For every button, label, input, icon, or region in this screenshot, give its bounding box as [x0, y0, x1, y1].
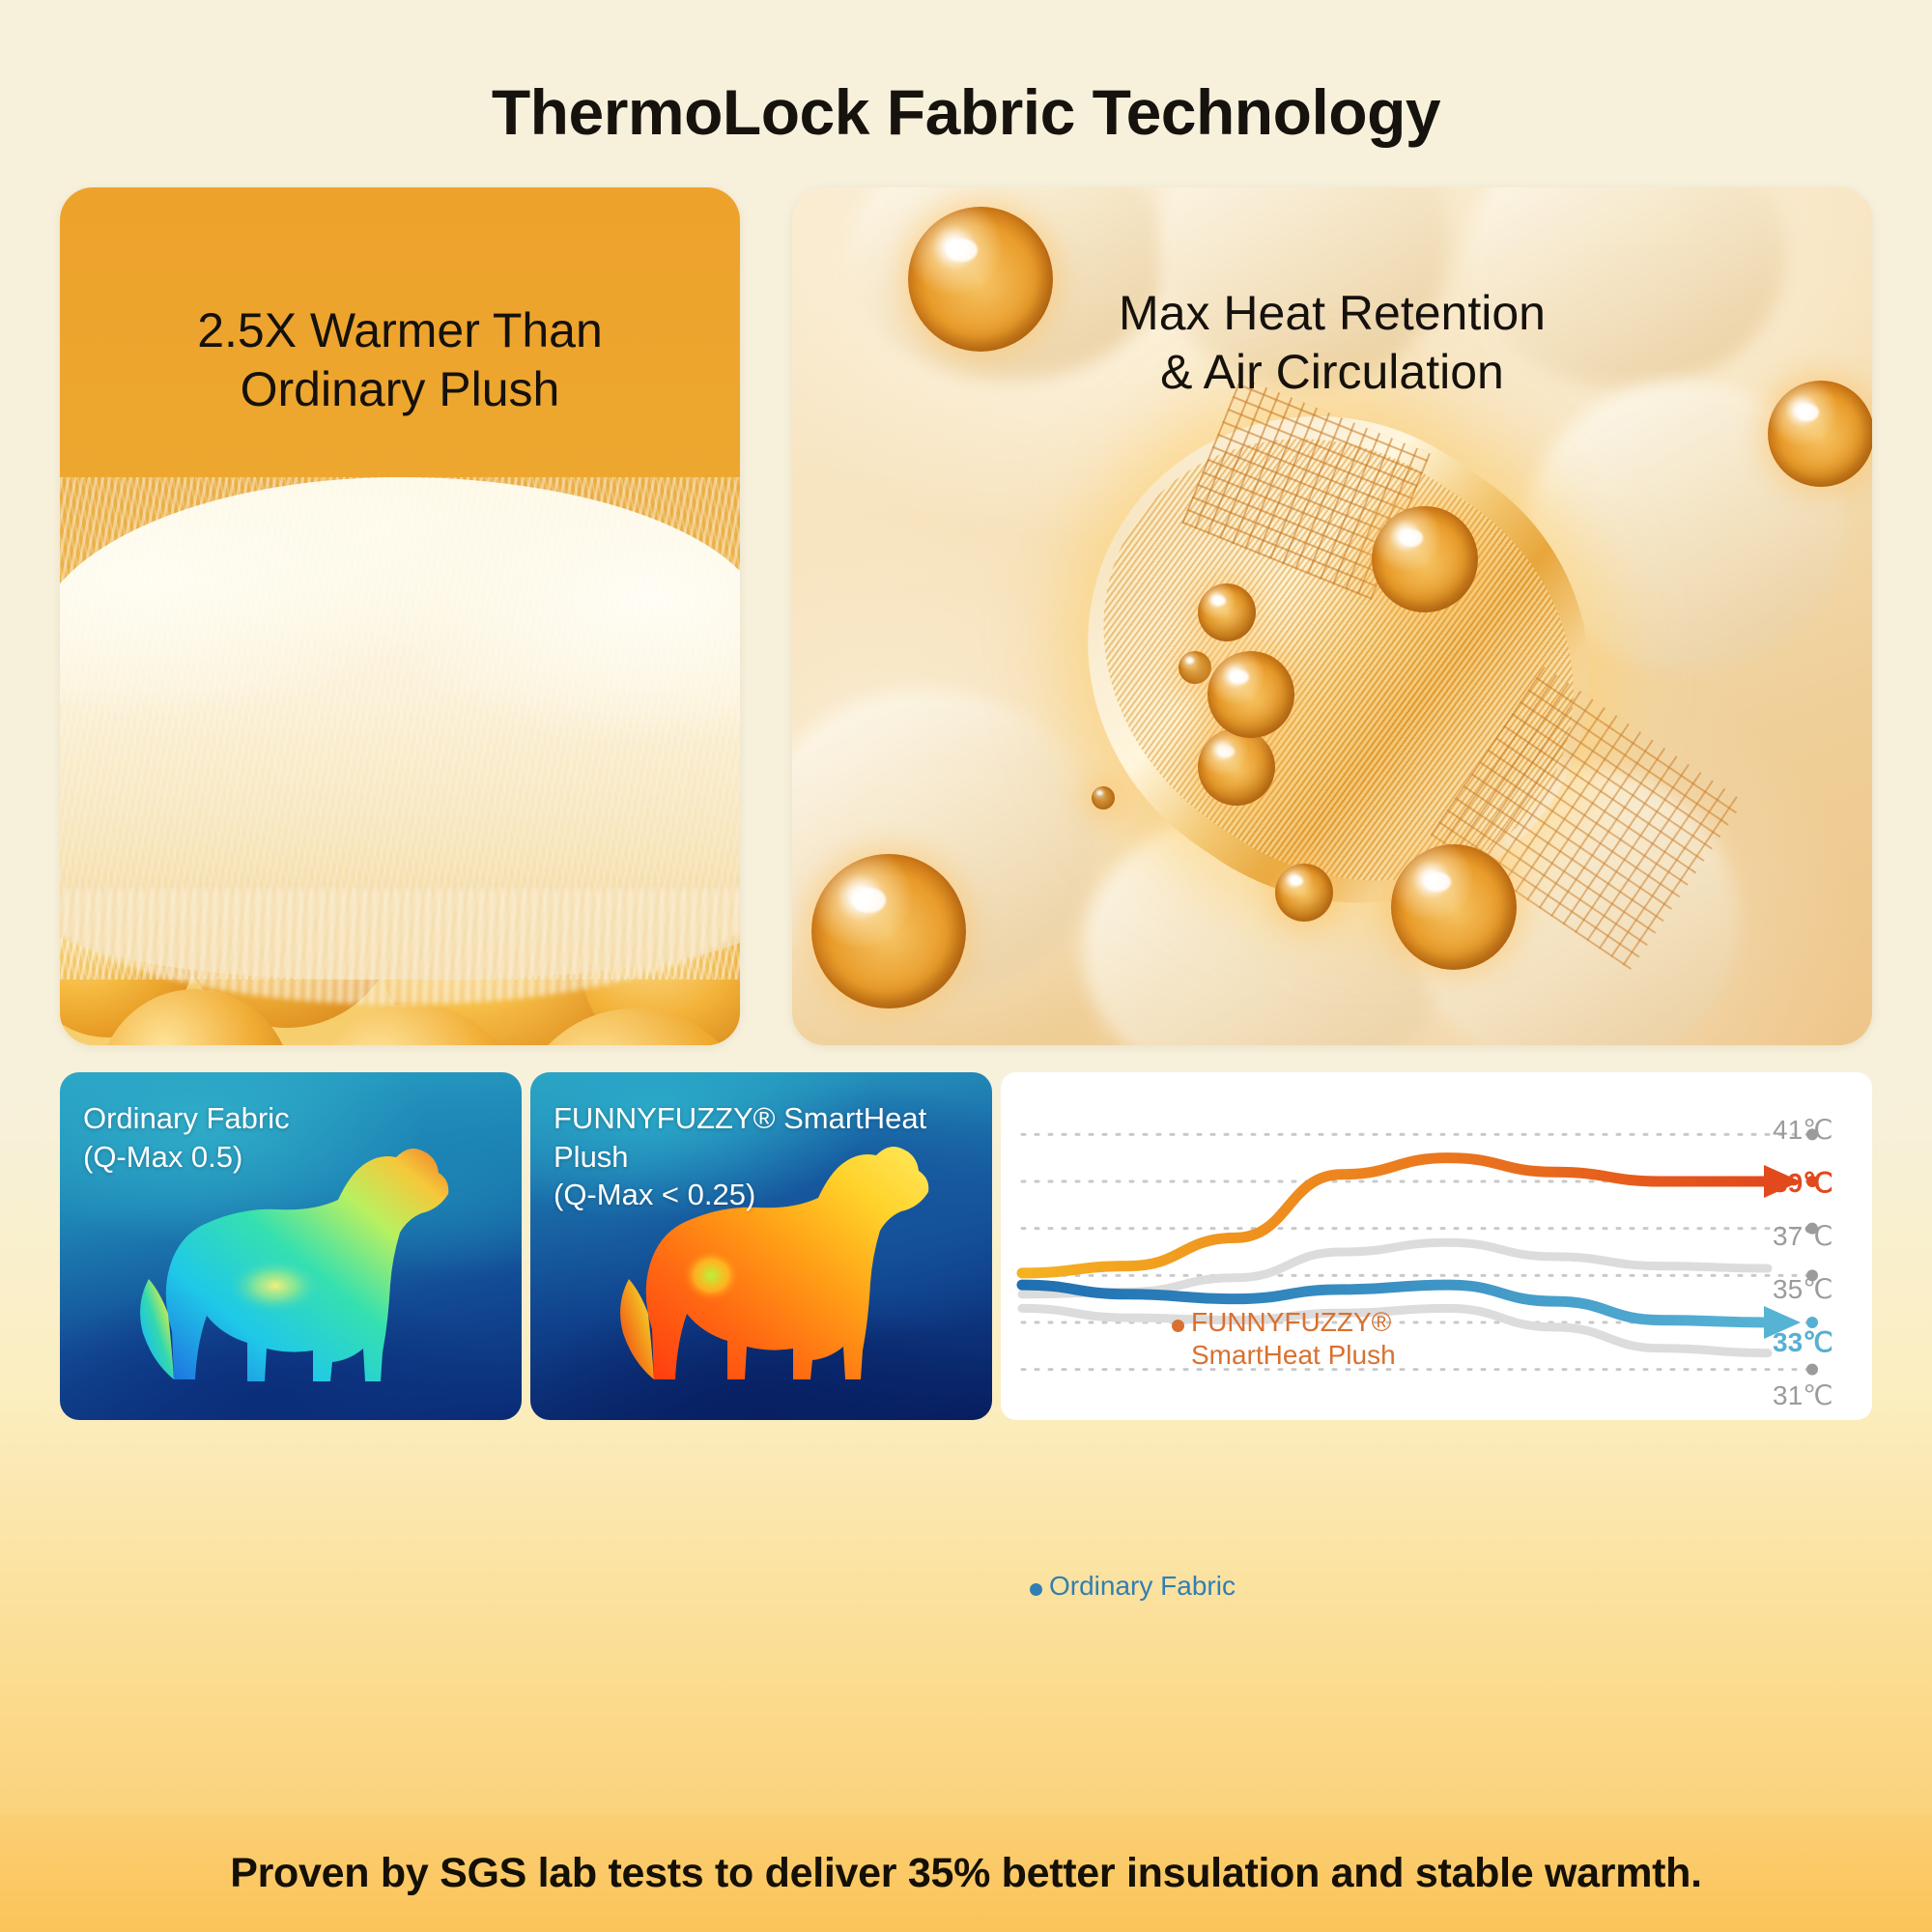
- heat-sphere: [1207, 651, 1294, 738]
- heat-sphere: [1372, 506, 1478, 612]
- panel-left-headline-line2: Ordinary Plush: [60, 360, 740, 419]
- chart-legend-ordinary-line1: Ordinary Fabric: [1049, 1570, 1236, 1603]
- temperature-chart: [1001, 1072, 1872, 1420]
- chart-tick-33: 33℃: [1773, 1326, 1833, 1358]
- thermal-label-line1: FUNNYFUZZY® SmartHeat Plush: [554, 1099, 992, 1176]
- thermal-label-line2: (Q-Max 0.5): [83, 1138, 290, 1177]
- heat-sphere: [1198, 728, 1275, 806]
- heat-sphere: [1092, 786, 1115, 810]
- chart-legend-dot-ordinary: [1030, 1583, 1042, 1596]
- panel-left-headline: 2.5X Warmer Than Ordinary Plush: [60, 301, 740, 419]
- thermal-panel-smartheat: FUNNYFUZZY® SmartHeat Plush (Q-Max < 0.2…: [530, 1072, 992, 1420]
- chart-tick-41: 41℃: [1773, 1114, 1833, 1146]
- page-title: ThermoLock Fabric Technology: [0, 75, 1932, 149]
- chart-tick-39: 39℃: [1773, 1167, 1833, 1199]
- chart-tick-37: 37℃: [1773, 1220, 1833, 1252]
- panel-right-headline-line1: Max Heat Retention: [792, 284, 1872, 343]
- chart-tick-35: 35℃: [1773, 1273, 1833, 1305]
- chart-legend-smartheat-line1: FUNNYFUZZY®: [1191, 1306, 1396, 1339]
- panel-left-headline-line1: 2.5X Warmer Than: [60, 301, 740, 360]
- chart-legend-ordinary: Ordinary Fabric: [1049, 1570, 1236, 1603]
- panel-right-headline-line2: & Air Circulation: [792, 343, 1872, 402]
- panel-right-headline: Max Heat Retention & Air Circulation: [792, 284, 1872, 402]
- chart-legend-smartheat: FUNNYFUZZY® SmartHeat Plush: [1191, 1306, 1396, 1371]
- chart-legend-smartheat-line2: SmartHeat Plush: [1191, 1339, 1396, 1372]
- heat-sphere: [1275, 864, 1333, 922]
- heat-sphere: [1179, 651, 1211, 684]
- chart-canvas: [1001, 1072, 1872, 1420]
- heat-sphere: [1198, 583, 1256, 641]
- plush-fabric-texture: [60, 477, 740, 980]
- thermal-label-line2: (Q-Max < 0.25): [554, 1176, 992, 1214]
- footer-caption-bar: Proven by SGS lab tests to deliver 35% b…: [0, 1814, 1932, 1932]
- infographic-page: ThermoLock Fabric Technology 2.5X Warmer…: [0, 0, 1932, 1932]
- heat-sphere: [1391, 844, 1517, 970]
- chart-legend-dot-smartheat: [1172, 1320, 1184, 1332]
- footer-caption: Proven by SGS lab tests to deliver 35% b…: [230, 1850, 1702, 1897]
- thermal-label-line1: Ordinary Fabric: [83, 1099, 290, 1138]
- heat-sphere: [811, 854, 966, 1009]
- thermal-panel-ordinary: Ordinary Fabric (Q-Max 0.5): [60, 1072, 522, 1420]
- chart-tick-31: 31℃: [1773, 1379, 1833, 1411]
- panel-warmth-comparison: 2.5X Warmer Than Ordinary Plush Q-Max < …: [60, 187, 740, 1045]
- thermal-label-ordinary: Ordinary Fabric (Q-Max 0.5): [83, 1099, 290, 1176]
- thermal-label-smartheat: FUNNYFUZZY® SmartHeat Plush (Q-Max < 0.2…: [554, 1099, 992, 1214]
- panel-heat-retention: Max Heat Retention & Air Circulation: [792, 187, 1872, 1045]
